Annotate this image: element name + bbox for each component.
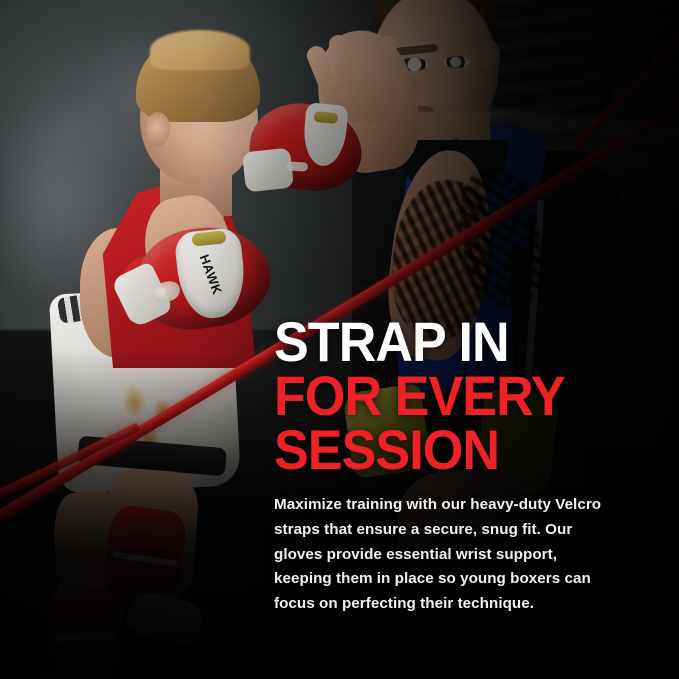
boxing-glove-upper-strap-panel [301, 102, 348, 167]
boy-shin-guard-trim-back [52, 632, 116, 642]
boy-shorts-hem [77, 436, 227, 477]
boy-foot-front [125, 590, 206, 646]
boy-shorts-waistband [57, 278, 191, 324]
boy-shoulder [80, 228, 166, 358]
boy-shin-guard-front [99, 503, 189, 617]
boxing-glove-main-cuff [110, 261, 173, 329]
boxing-glove-upper-velcro-strap [314, 111, 339, 124]
boy-shin-guard-back [45, 588, 124, 679]
boxing-glove-upper-tab [286, 161, 308, 171]
boxing-glove-velcro-strap [191, 230, 226, 246]
coach-collar [398, 140, 508, 198]
boxing-glove-strap-panel: HAWK [174, 227, 249, 321]
boy-thigh-front [100, 467, 201, 603]
boy-hair-highlight [150, 30, 250, 70]
boy-necklace [170, 186, 229, 243]
coach-eye-right [444, 56, 470, 68]
copy-block: STRAP IN FOR EVERY SESSION Maximize trai… [274, 315, 666, 616]
coach-finger-2 [327, 33, 366, 125]
boy-arm [137, 190, 245, 335]
ring-post [607, 0, 633, 205]
headline-line-3: SESSION [274, 423, 639, 477]
coach-eye-left [398, 58, 428, 71]
hawk-brand-label: HAWK [197, 252, 225, 296]
coach-finger-4 [375, 36, 397, 123]
boy-shorts-gold-print [107, 378, 203, 488]
mat-edge-highlight [454, 105, 679, 170]
coach-mouth [394, 104, 435, 116]
headline-line-2: FOR EVERY [274, 369, 639, 423]
boy-foot-back [39, 664, 117, 679]
boxing-glove-main [130, 219, 277, 337]
body-paragraph: Maximize training with our heavy-duty Ve… [274, 493, 609, 616]
boxing-glove-side-logo [150, 279, 182, 304]
boy-red-singlet [96, 178, 266, 368]
boy-thigh-back [52, 490, 129, 633]
boy-head [140, 44, 258, 184]
boy-singlet-trim [162, 182, 182, 292]
ring-rope-lower-left [0, 422, 141, 527]
coach-neck [408, 112, 490, 182]
coach-ear [474, 38, 500, 76]
boxing-glove-thumb [116, 249, 180, 309]
promo-poster: HAWK STRAP IN FOR EVERY SESSION Maximize… [0, 0, 679, 679]
coach-finger-3 [353, 30, 380, 125]
coach-open-palm [309, 23, 426, 178]
coach-nose [400, 74, 422, 100]
coach-eyebrow [392, 44, 439, 57]
boy-neck [160, 160, 232, 216]
boy-muay-thai-shorts [49, 285, 241, 494]
ring-rope-top-right [572, 0, 679, 151]
coach-singlet-strap [468, 123, 550, 252]
ring-slats-upper [470, 0, 679, 200]
mat-edge-highlight-2 [470, 131, 679, 196]
boy-ear [146, 112, 170, 146]
coach-hair [372, 0, 498, 46]
headline-line-1: STRAP IN [274, 315, 639, 369]
coach-head [370, 0, 498, 140]
boy-shin-guard-trim-front [112, 551, 178, 566]
boxing-glove-upper [246, 98, 366, 195]
coach-tattoo-upper-arm [452, 163, 551, 313]
boy-hair [136, 34, 260, 122]
coach-finger-1 [304, 43, 351, 122]
boxing-glove-upper-cuff [242, 148, 294, 193]
